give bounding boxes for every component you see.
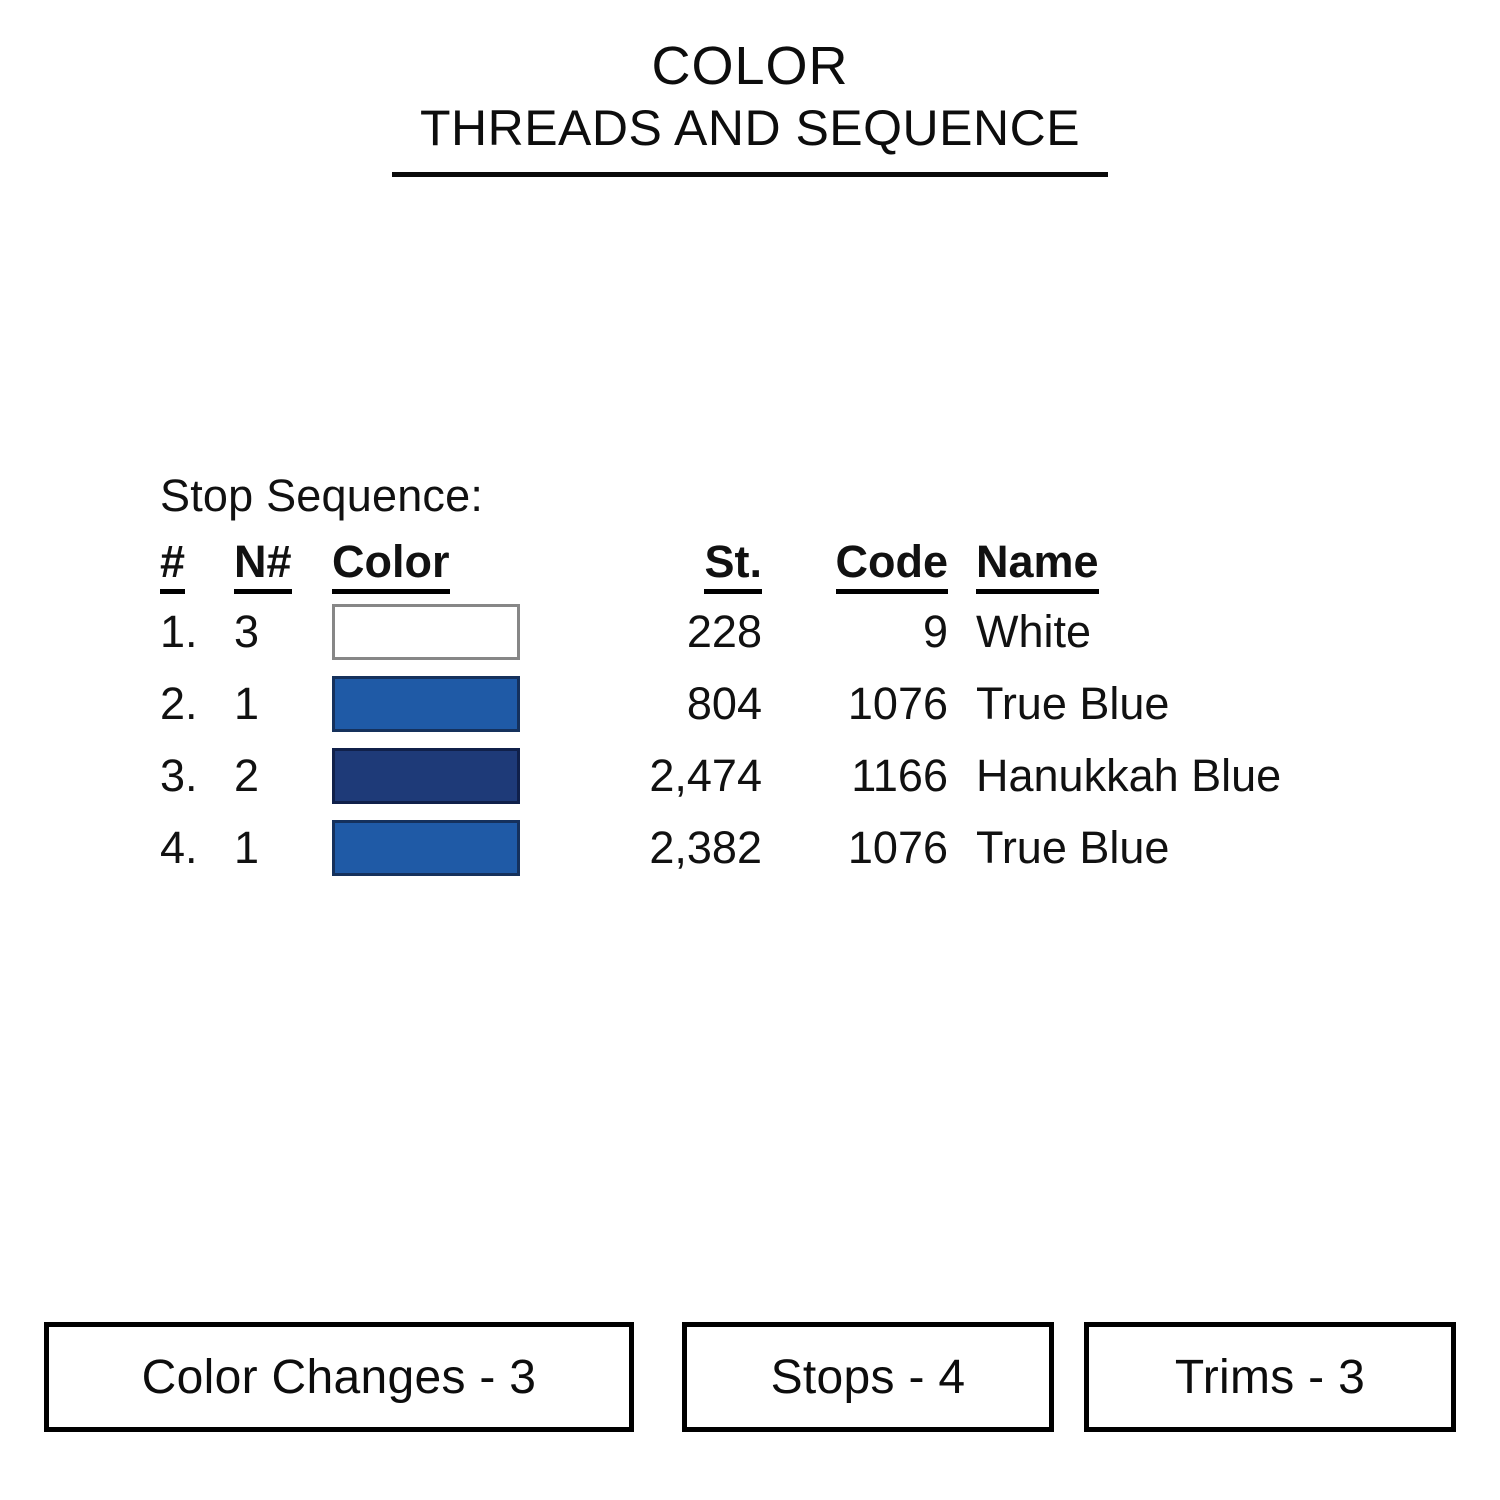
row-stitches: 2,382 — [562, 812, 770, 884]
stop-sequence-section: Stop Sequence: # N# Color St. Code — [160, 470, 1420, 884]
row-thread-name: True Blue — [966, 812, 1281, 884]
stat-box-stops: Stops - 4 — [682, 1322, 1054, 1432]
column-header-code: Code — [770, 536, 966, 596]
row-needle: 3 — [234, 596, 332, 668]
row-thread-code: 9 — [770, 596, 966, 668]
row-thread-code: 1166 — [770, 740, 966, 812]
color-swatch — [332, 748, 520, 804]
stat-box-color-changes: Color Changes - 3 — [44, 1322, 634, 1432]
table-row: 1. 3 228 9 White — [160, 596, 1281, 668]
row-color-cell — [332, 596, 562, 668]
color-swatch — [332, 604, 520, 660]
row-stitches: 228 — [562, 596, 770, 668]
stop-sequence-label: Stop Sequence: — [160, 470, 1420, 522]
column-header-color: Color — [332, 536, 562, 596]
page-subtitle: THREADS AND SEQUENCE — [0, 101, 1500, 156]
column-header-num: # — [160, 536, 234, 596]
color-swatch — [332, 820, 520, 876]
stop-sequence-table: # N# Color St. Code Name — [160, 536, 1281, 884]
table-row: 2. 1 804 1076 True Blue — [160, 668, 1281, 740]
row-thread-name: True Blue — [966, 668, 1281, 740]
color-swatch — [332, 676, 520, 732]
column-header-needle: N# — [234, 536, 332, 596]
row-stitches: 2,474 — [562, 740, 770, 812]
row-thread-name: White — [966, 596, 1281, 668]
row-needle: 2 — [234, 740, 332, 812]
column-header-name: Name — [966, 536, 1281, 596]
row-needle: 1 — [234, 812, 332, 884]
column-header-stitches: St. — [562, 536, 770, 596]
row-index: 1. — [160, 596, 234, 668]
row-thread-code: 1076 — [770, 812, 966, 884]
stat-box-trims: Trims - 3 — [1084, 1322, 1456, 1432]
page-title: COLOR — [0, 38, 1500, 95]
table-row: 3. 2 2,474 1166 Hanukkah Blue — [160, 740, 1281, 812]
row-thread-name: Hanukkah Blue — [966, 740, 1281, 812]
table-row: 4. 1 2,382 1076 True Blue — [160, 812, 1281, 884]
table-header-row: # N# Color St. Code Name — [160, 536, 1281, 596]
document-title-block: COLOR THREADS AND SEQUENCE — [0, 38, 1500, 177]
row-thread-code: 1076 — [770, 668, 966, 740]
row-index: 3. — [160, 740, 234, 812]
row-index: 2. — [160, 668, 234, 740]
row-color-cell — [332, 668, 562, 740]
row-color-cell — [332, 740, 562, 812]
row-stitches: 804 — [562, 668, 770, 740]
row-index: 4. — [160, 812, 234, 884]
row-needle: 1 — [234, 668, 332, 740]
row-color-cell — [332, 812, 562, 884]
summary-stats-row: Color Changes - 3 Stops - 4 Trims - 3 — [44, 1322, 1456, 1432]
title-divider — [392, 172, 1108, 177]
